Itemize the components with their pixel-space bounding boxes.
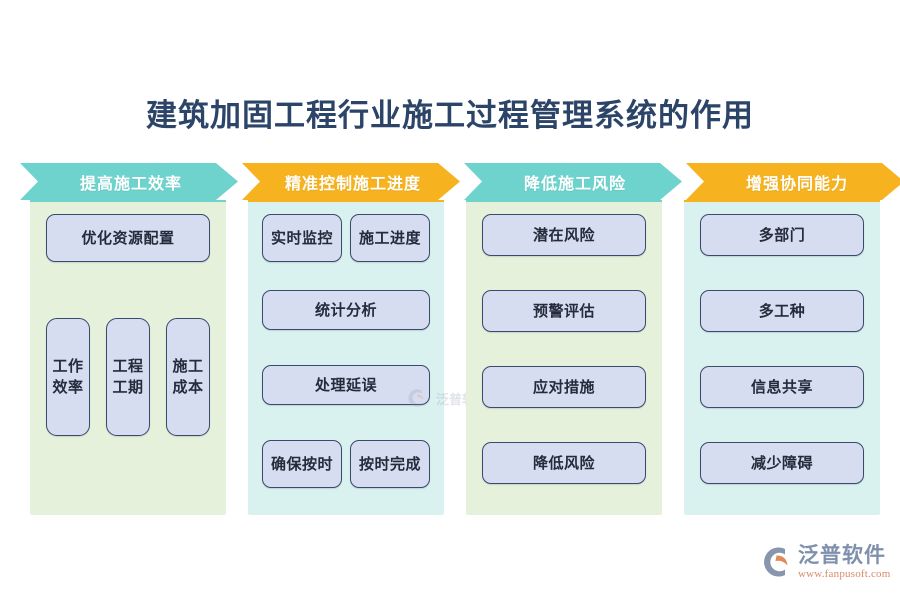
- box-response-measures[interactable]: 应对措施: [482, 366, 646, 408]
- box-realtime-monitoring[interactable]: 实时监控: [262, 214, 342, 262]
- column-panel-1: 优化资源配置 工作 效率 工程 工期 施工 成本: [30, 200, 226, 515]
- page-title: 建筑加固工程行业施工过程管理系统的作用: [0, 96, 900, 136]
- brand-name: 泛普软件: [798, 544, 891, 567]
- box-project-duration-line1: 工程: [112, 356, 143, 377]
- box-ensure-on-time[interactable]: 确保按时: [262, 440, 342, 488]
- box-early-warning-assessment[interactable]: 预警评估: [482, 290, 646, 332]
- stage-banner-1-label: 提高施工效率: [76, 170, 182, 194]
- stage-banner-3-label: 降低施工风险: [520, 170, 626, 194]
- stage-banner-4-label: 增强协同能力: [742, 170, 848, 194]
- stage-banner-2[interactable]: 精准控制施工进度: [242, 163, 460, 200]
- stage-banner-2-label: 精准控制施工进度: [281, 170, 421, 194]
- box-construction-cost-line2: 成本: [172, 377, 203, 398]
- stage-banner-3[interactable]: 降低施工风险: [464, 163, 682, 200]
- brand-url: www.fanpusoft.com: [798, 567, 891, 581]
- panel-3-top-rule: [466, 200, 662, 202]
- box-information-sharing[interactable]: 信息共享: [700, 366, 864, 408]
- box-multi-trade[interactable]: 多工种: [700, 290, 864, 332]
- box-project-duration-line2: 工期: [112, 377, 143, 398]
- brand-logo-icon: [762, 546, 794, 578]
- brand-logo-text: 泛普软件 www.fanpusoft.com: [798, 544, 891, 581]
- box-reduce-obstacles[interactable]: 减少障碍: [700, 442, 864, 484]
- box-potential-risk[interactable]: 潜在风险: [482, 214, 646, 256]
- box-multi-department[interactable]: 多部门: [700, 214, 864, 256]
- box-optimize-resources[interactable]: 优化资源配置: [46, 214, 210, 262]
- box-reduce-risk[interactable]: 降低风险: [482, 442, 646, 484]
- box-work-efficiency-line2: 效率: [52, 377, 83, 398]
- infographic-canvas: 建筑加固工程行业施工过程管理系统的作用 提高施工效率 精准控制施工进度 降低施工…: [0, 0, 900, 600]
- stage-banner-4[interactable]: 增强协同能力: [686, 163, 900, 200]
- column-panel-3: 潜在风险 预警评估 应对措施 降低风险: [466, 200, 662, 515]
- column-panel-2: 实时监控 施工进度 统计分析 处理延误 确保按时 按时完成 泛普软件: [248, 200, 444, 515]
- stage-banner-1[interactable]: 提高施工效率: [20, 163, 238, 200]
- box-construction-progress[interactable]: 施工进度: [350, 214, 430, 262]
- box-work-efficiency-line1: 工作: [52, 356, 83, 377]
- box-complete-on-time[interactable]: 按时完成: [350, 440, 430, 488]
- panel-2-top-rule: [248, 200, 444, 202]
- column-panel-4: 多部门 多工种 信息共享 减少障碍: [684, 200, 880, 515]
- box-project-duration[interactable]: 工程 工期: [106, 318, 150, 436]
- box-statistical-analysis[interactable]: 统计分析: [262, 290, 430, 330]
- panel-4-top-rule: [684, 200, 880, 202]
- stage-banner-row: 提高施工效率 精准控制施工进度 降低施工风险 增强协同能力: [20, 163, 888, 200]
- box-handle-delays[interactable]: 处理延误: [262, 365, 430, 405]
- box-work-efficiency[interactable]: 工作 效率: [46, 318, 90, 436]
- box-construction-cost[interactable]: 施工 成本: [166, 318, 210, 436]
- panel-1-top-rule: [30, 200, 226, 202]
- box-construction-cost-line1: 施工: [172, 356, 203, 377]
- brand-logo[interactable]: 泛普软件 www.fanpusoft.com: [762, 538, 888, 586]
